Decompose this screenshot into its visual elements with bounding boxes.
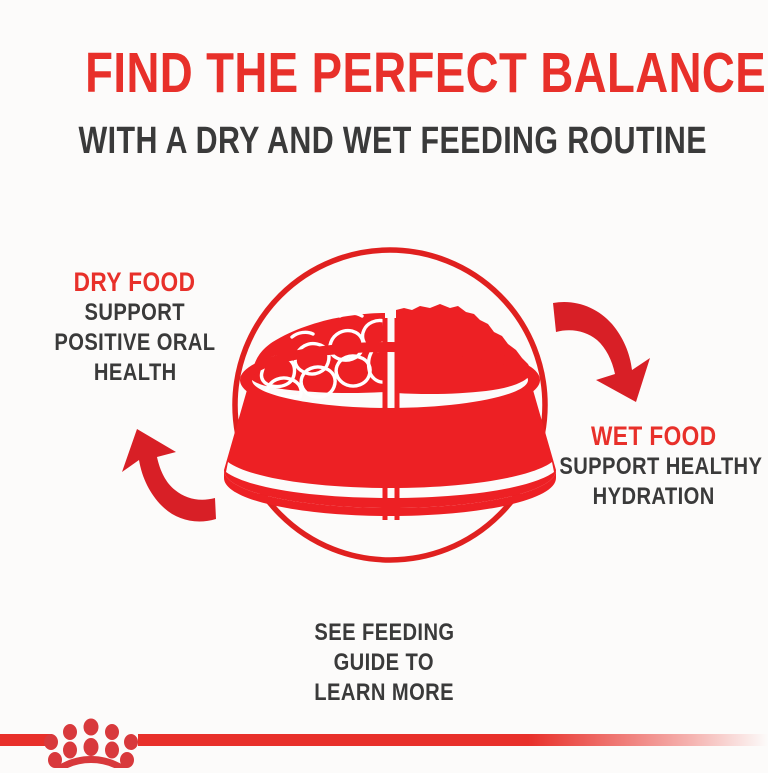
label-wet-food-title: WET FOOD	[540, 420, 768, 452]
split-pet-food-bowl-icon	[224, 342, 556, 516]
page-subtitle-text: WITH A DRY AND WET FEEDING ROUTINE	[79, 121, 707, 161]
label-dry-food-title: DRY FOOD	[12, 266, 258, 298]
label-dry-food-desc-line-2: POSITIVE ORAL	[12, 328, 258, 358]
label-wet-food-desc-line-2: HYDRATION	[540, 482, 768, 512]
page-title: FIND THE PERFECT BALANCE	[0, 44, 768, 102]
label-dry-food-desc-line-1: SUPPORT	[12, 298, 258, 328]
page-subtitle: WITH A DRY AND WET FEEDING ROUTINE	[0, 121, 768, 161]
vertical-divider-icon	[378, 318, 400, 520]
footer-rule-right	[138, 734, 768, 746]
feeding-guide-caption: SEE FEEDING GUIDE TO LEARN MORE	[0, 618, 768, 708]
label-wet-food-desc-line-1: SUPPORT HEALTHY	[540, 452, 768, 482]
wet-food-mound-icon	[396, 304, 532, 394]
feeding-bowl-circle-icon	[235, 250, 545, 560]
royal-canin-crown-logo	[44, 719, 138, 769]
page-title-text: FIND THE PERFECT BALANCE	[85, 44, 766, 102]
caption-line-2: GUIDE TO	[0, 648, 768, 678]
dry-kibble-icon	[252, 313, 385, 397]
curved-arrow-down-right-icon	[553, 302, 650, 402]
footer-bar	[0, 700, 768, 768]
footer-rule-left	[0, 734, 52, 746]
curved-arrow-up-left-icon	[122, 429, 216, 521]
caption-line-1: SEE FEEDING	[0, 618, 768, 648]
label-wet-food: WET FOOD SUPPORT HEALTHY HYDRATION	[540, 420, 768, 512]
label-dry-food-desc-line-3: HEALTH	[12, 358, 258, 388]
infographic-poster: FIND THE PERFECT BALANCE WITH A DRY AND …	[0, 0, 768, 768]
label-dry-food: DRY FOOD SUPPORT POSITIVE ORAL HEALTH	[12, 266, 258, 388]
